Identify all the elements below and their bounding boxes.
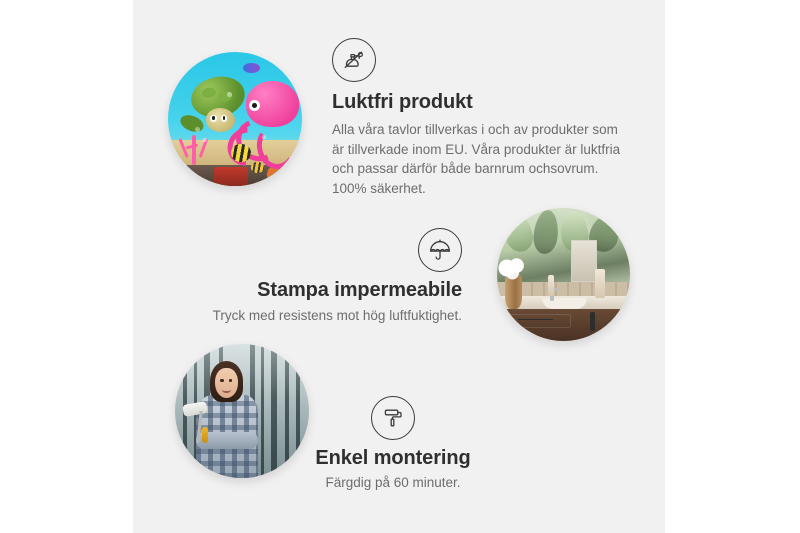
- feature-description: Färgdig på 60 minuter.: [278, 473, 508, 493]
- sink: [542, 298, 587, 309]
- no-fragrance-spray-icon: [332, 38, 376, 82]
- roller-grip: [202, 427, 209, 443]
- feature-description: Tryck med resistens mot hög luftfuktighe…: [200, 306, 462, 326]
- white-flowers: [498, 256, 527, 280]
- mirror: [571, 240, 597, 282]
- coral: [177, 127, 212, 165]
- feature-title: Enkel montering: [278, 446, 508, 470]
- sea-red-object: [214, 167, 249, 186]
- feature-description: Alla våra tavlor tillverkas i och av pro…: [332, 120, 632, 199]
- bathroom-artwork: [497, 208, 630, 341]
- underwater-artwork: [168, 52, 302, 186]
- fish: [251, 162, 264, 173]
- face: [215, 368, 238, 397]
- turtle-head: [206, 108, 235, 132]
- wood-cabinet: [497, 309, 630, 341]
- fish: [243, 63, 260, 74]
- feature-title: Stampa impermeabile: [200, 278, 462, 302]
- bottle: [595, 269, 604, 298]
- feature-stampa-impermeabile: Stampa impermeabile Tryck med resistens …: [200, 228, 462, 326]
- image-underwater-scene: [168, 52, 302, 186]
- paint-roller-icon: [371, 396, 415, 440]
- bottle: [548, 275, 555, 296]
- bubble: [203, 138, 207, 142]
- feature-enkel-montering: Enkel montering Färgdig på 60 minuter.: [278, 396, 508, 493]
- screenshot-canvas: Luktfri produkt Alla våra tavlor tillver…: [0, 0, 800, 533]
- bubble: [227, 92, 232, 97]
- feature-luktfri-produkt: Luktfri produkt Alla våra tavlor tillver…: [332, 38, 632, 199]
- bubble: [262, 135, 266, 139]
- feature-title: Luktfri produkt: [332, 90, 632, 114]
- image-bathroom-vanity: [497, 208, 630, 341]
- umbrella-icon: [418, 228, 462, 272]
- fish: [231, 144, 251, 161]
